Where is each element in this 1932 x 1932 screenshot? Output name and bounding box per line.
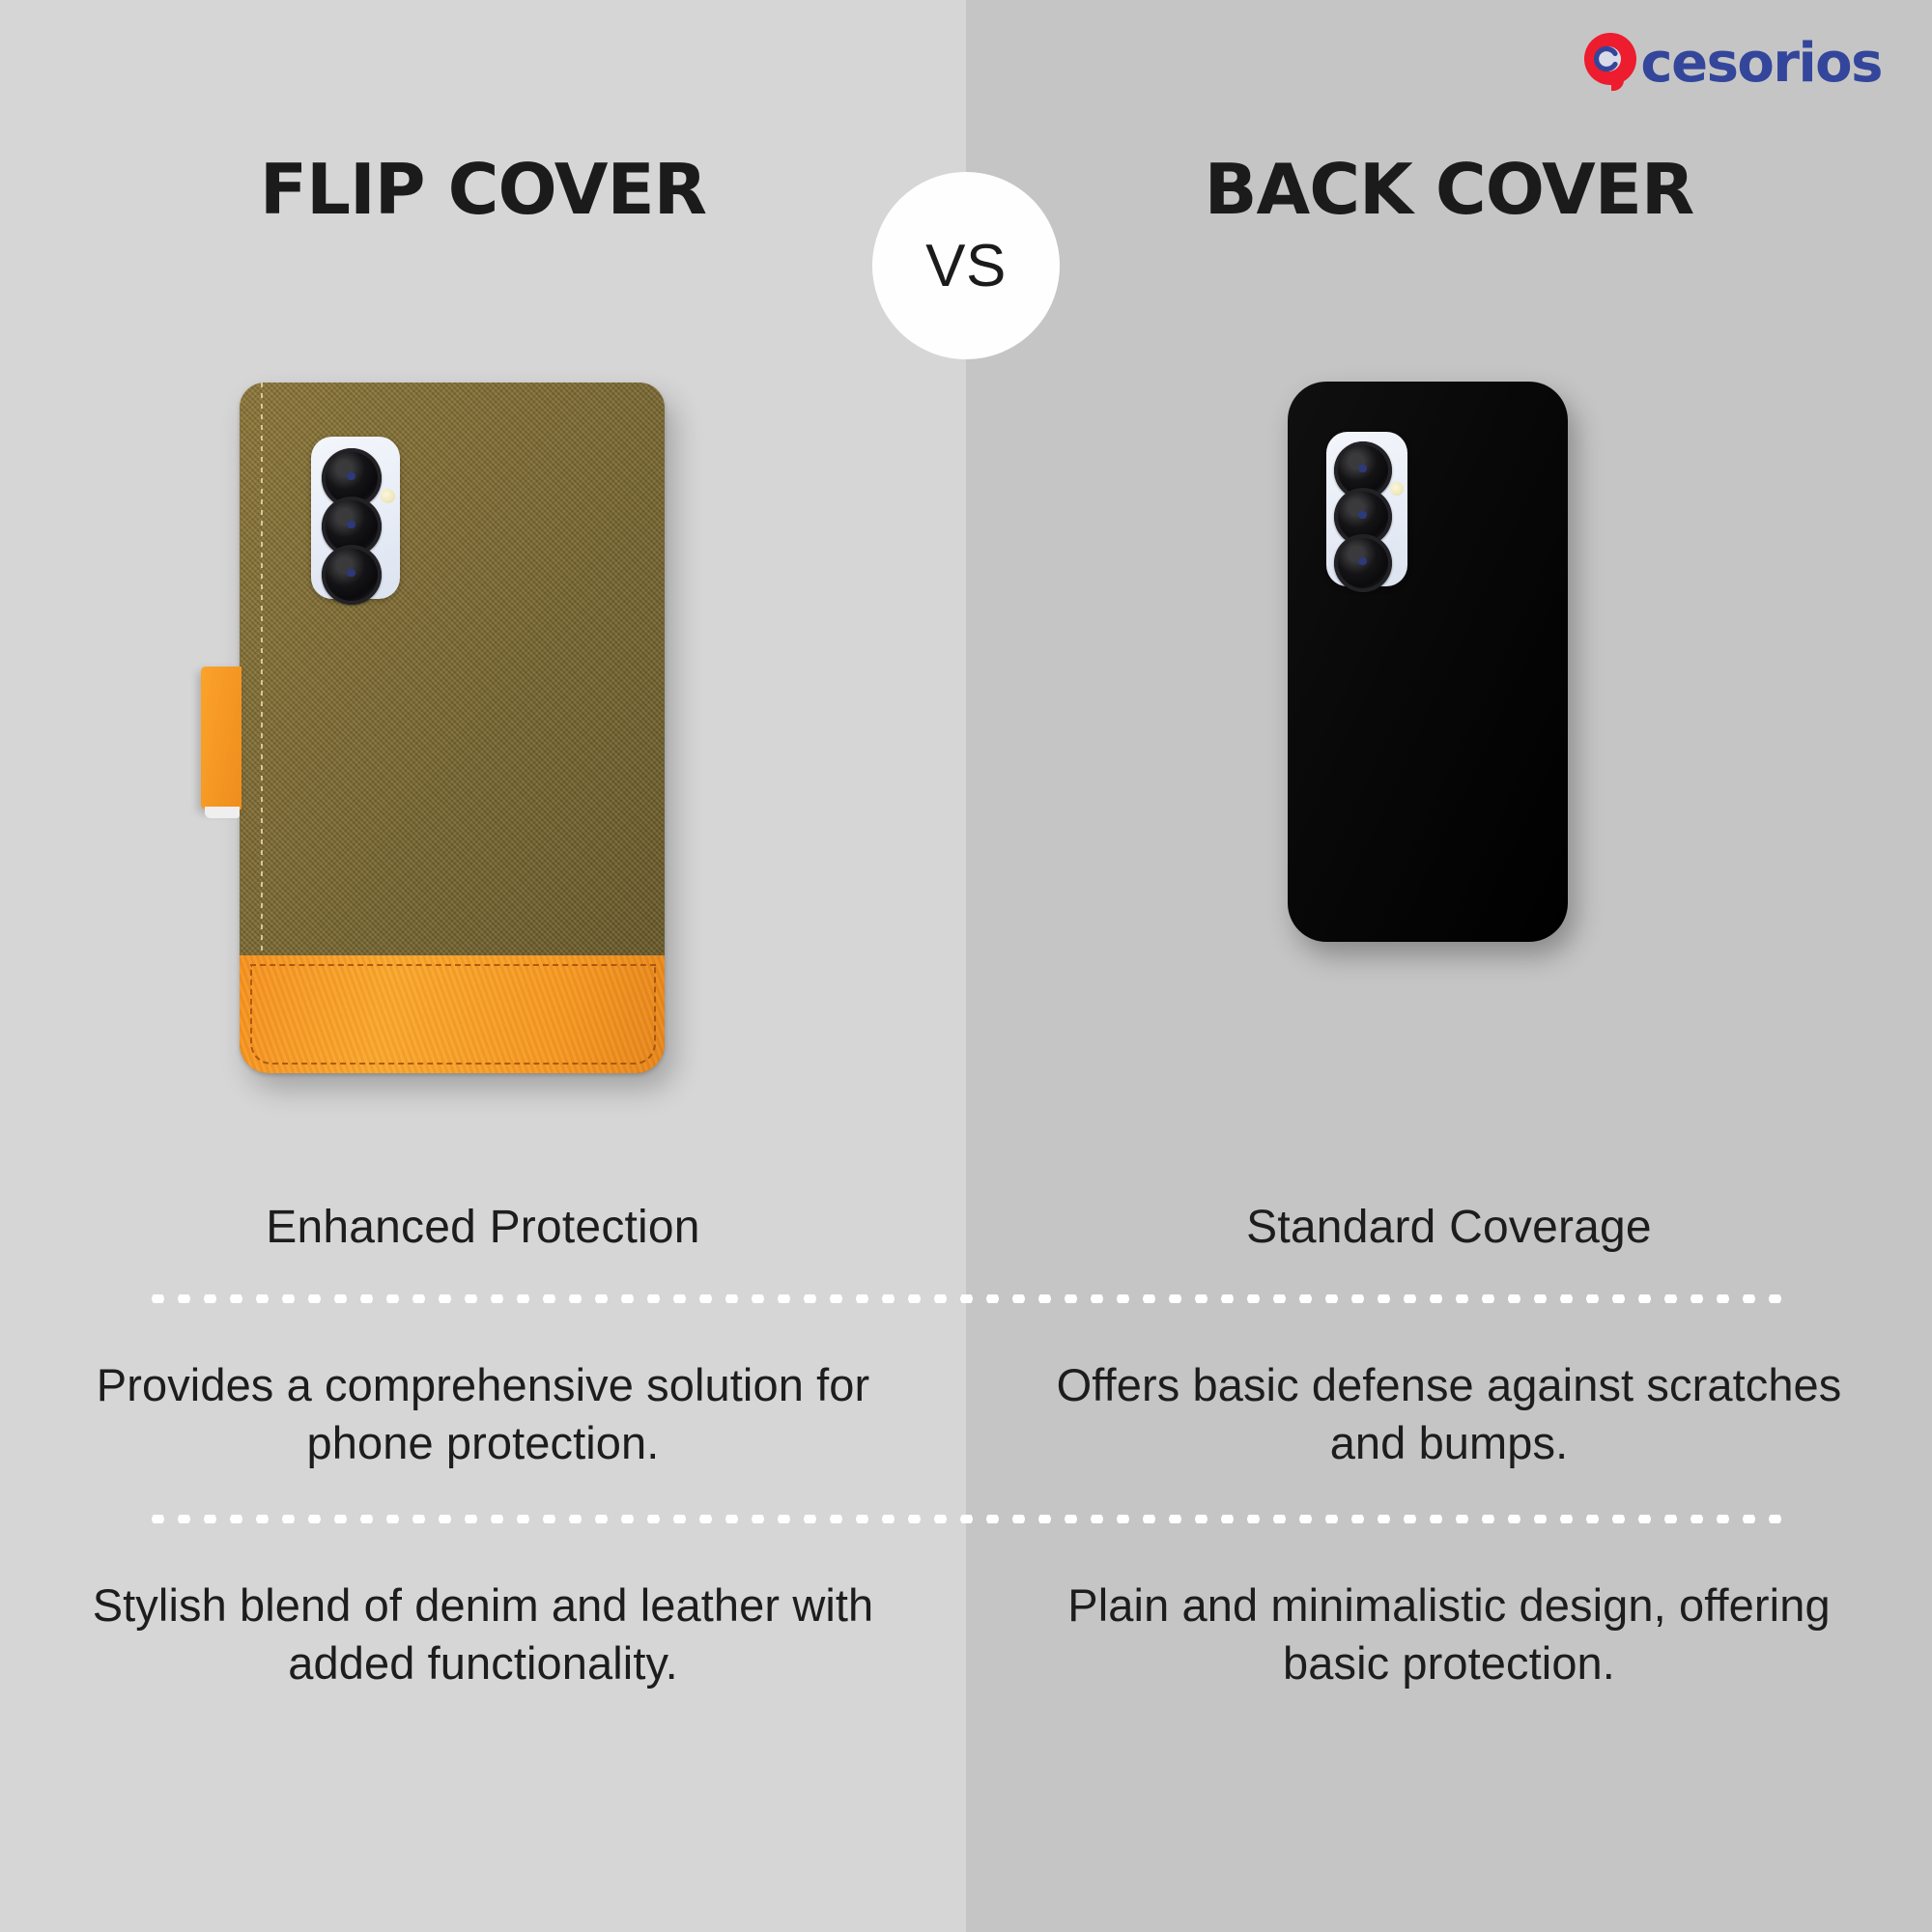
acesorios-circle-a-icon — [1578, 30, 1642, 94]
divider-row-2 — [145, 1515, 1787, 1523]
flip-cover-camera-module — [311, 437, 400, 599]
back-cover-camera-module — [1326, 432, 1407, 586]
camera-flash-icon — [1390, 482, 1404, 496]
comparison-infographic: cesorios FLIP COVER BACK COVER VS Enhanc… — [0, 0, 1932, 1932]
brand-logo-wordmark: cesorios — [1640, 37, 1882, 91]
camera-lens-icon — [322, 545, 382, 605]
flip-cover-closure-tab — [201, 667, 241, 810]
camera-lens-icon — [1334, 534, 1392, 592]
right-feature-2: Plain and minimalistic design, offering … — [1034, 1577, 1864, 1692]
flip-cover-leather-panel — [240, 955, 665, 1073]
right-feature-1: Offers basic defense against scratches a… — [1034, 1356, 1864, 1472]
camera-flash-icon — [381, 489, 395, 503]
left-column-heading: FLIP COVER — [0, 155, 966, 224]
left-caption: Enhanced Protection — [0, 1200, 966, 1256]
left-feature-1: Provides a comprehensive solution for ph… — [68, 1356, 898, 1472]
back-cover-product-image — [1288, 382, 1568, 942]
flip-cover-product-image — [240, 383, 665, 1073]
brand-logo[interactable]: cesorios — [1578, 25, 1882, 99]
divider-row-1 — [145, 1294, 1787, 1303]
vs-badge: VS — [872, 172, 1060, 359]
left-feature-2: Stylish blend of denim and leather with … — [68, 1577, 898, 1692]
right-column-heading: BACK COVER — [966, 155, 1932, 224]
right-caption: Standard Coverage — [966, 1200, 1932, 1256]
